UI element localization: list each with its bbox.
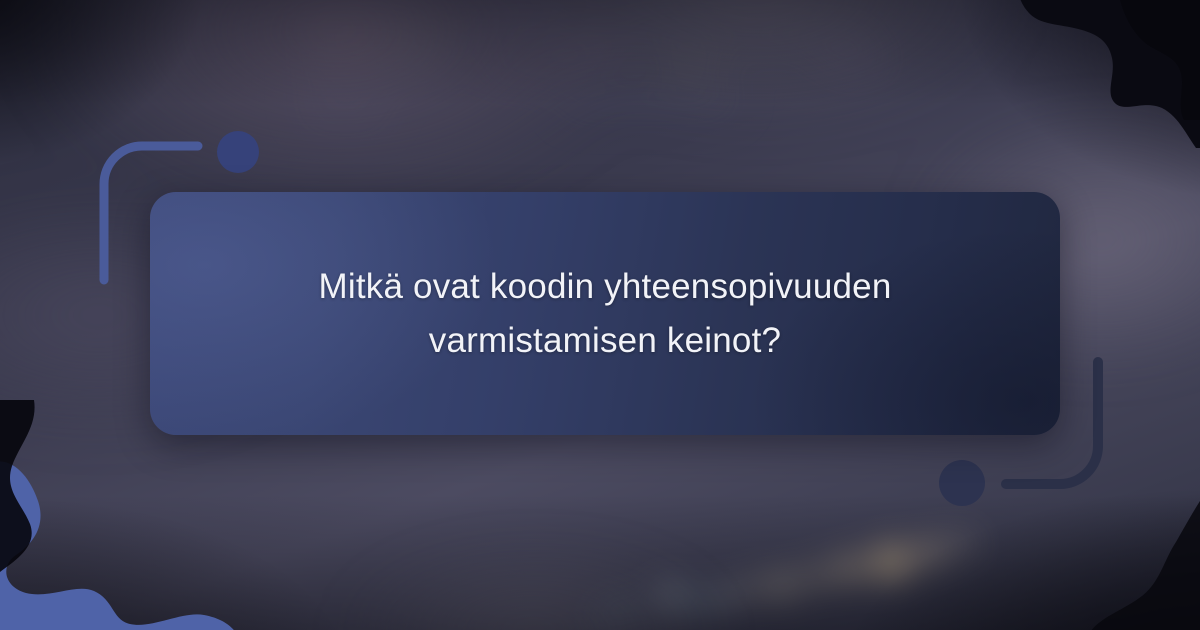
code-streak (300, 14, 420, 21)
poster-canvas: Mitkä ovat koodin yhteensopivuuden varmi… (0, 0, 1200, 630)
bokeh-light (770, 574, 794, 598)
code-streak (560, 46, 624, 53)
bottom-left-blob (0, 415, 240, 630)
code-streak (300, 108, 390, 115)
bokeh-light (714, 588, 734, 608)
code-streak (560, 100, 740, 107)
bottom-right-blob (1090, 498, 1200, 630)
top-right-blob-secondary (1120, 0, 1200, 120)
question-text: Mitkä ovat koodin yhteensopivuuden varmi… (150, 260, 1060, 366)
code-streak (660, 60, 720, 67)
code-streak (300, 62, 450, 69)
bokeh-light (952, 534, 972, 554)
question-card: Mitkä ovat koodin yhteensopivuuden varmi… (150, 192, 1060, 435)
bokeh-light (806, 566, 828, 588)
code-streak (470, 18, 570, 25)
code-streak (480, 66, 570, 73)
code-streak (740, 30, 870, 37)
code-streak (320, 38, 390, 45)
code-streak (820, 58, 890, 65)
bokeh-light (690, 594, 706, 610)
top-right-blob (1000, 0, 1200, 148)
bottom-left-shadow-blob (0, 400, 106, 630)
bokeh-light (916, 540, 942, 566)
code-streak (400, 36, 446, 43)
bokeh-light (620, 600, 636, 616)
bokeh-light (660, 586, 682, 608)
bokeh-light (596, 610, 610, 624)
code-streak (620, 24, 730, 31)
bokeh-light (874, 546, 908, 580)
bokeh-light (742, 580, 760, 598)
bokeh-light (838, 556, 864, 582)
